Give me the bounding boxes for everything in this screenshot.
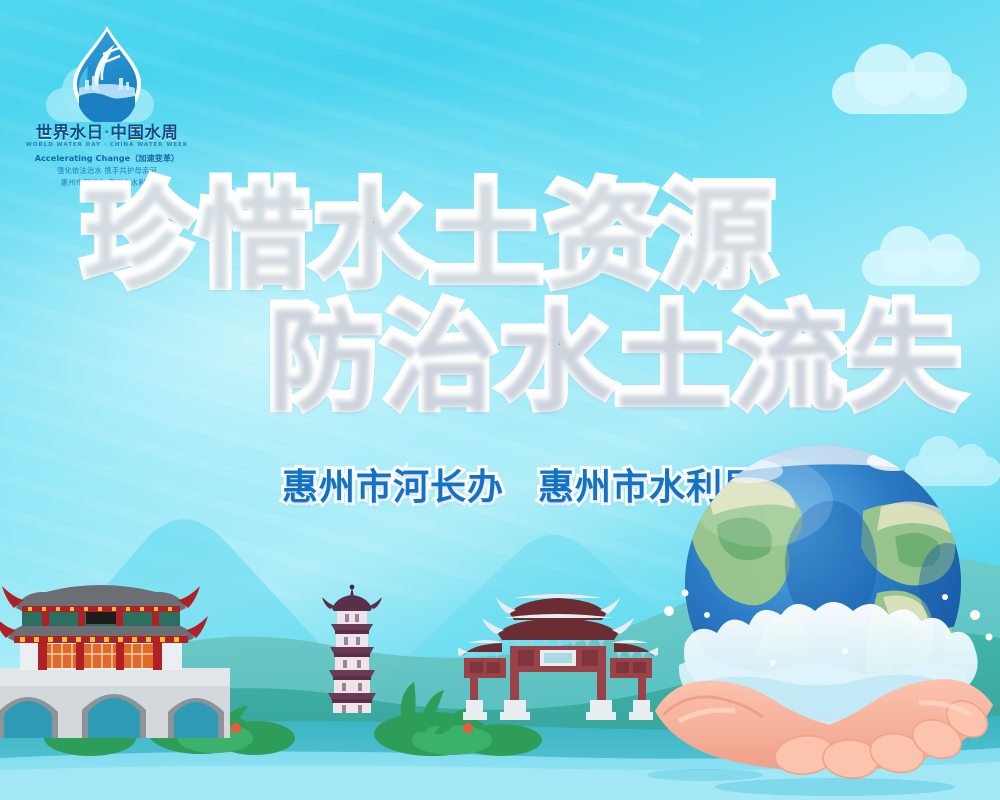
poster-canvas: 世界水日·中国水周 WORLD WATER DAY · CHINA WATER … (0, 0, 1000, 800)
org-name-1: 惠州市河长办 (282, 467, 504, 508)
water-drop-icon (57, 22, 157, 122)
cloud-icon (832, 72, 967, 114)
logo-title-en: WORLD WATER DAY · CHINA WATER WEEK (22, 142, 192, 148)
logo-title-cn: 世界水日·中国水周 (22, 124, 192, 141)
logo-slogan-en: Accelerating Change（加速变革） (22, 152, 192, 164)
earth-globe-in-hands-illustration (645, 415, 1000, 800)
world-water-day-logo: 世界水日·中国水周 WORLD WATER DAY · CHINA WATER … (22, 22, 192, 187)
chinese-pagoda (312, 583, 392, 717)
headline-block: 珍惜水土资源 防治水土流失 (0, 180, 940, 414)
chinese-memorial-archway (458, 588, 658, 732)
headline-line-2: 防治水土流失 (0, 302, 940, 414)
headline-line-1: 珍惜水土资源 (0, 180, 940, 292)
chinese-gate-tower-bridge (0, 570, 230, 754)
